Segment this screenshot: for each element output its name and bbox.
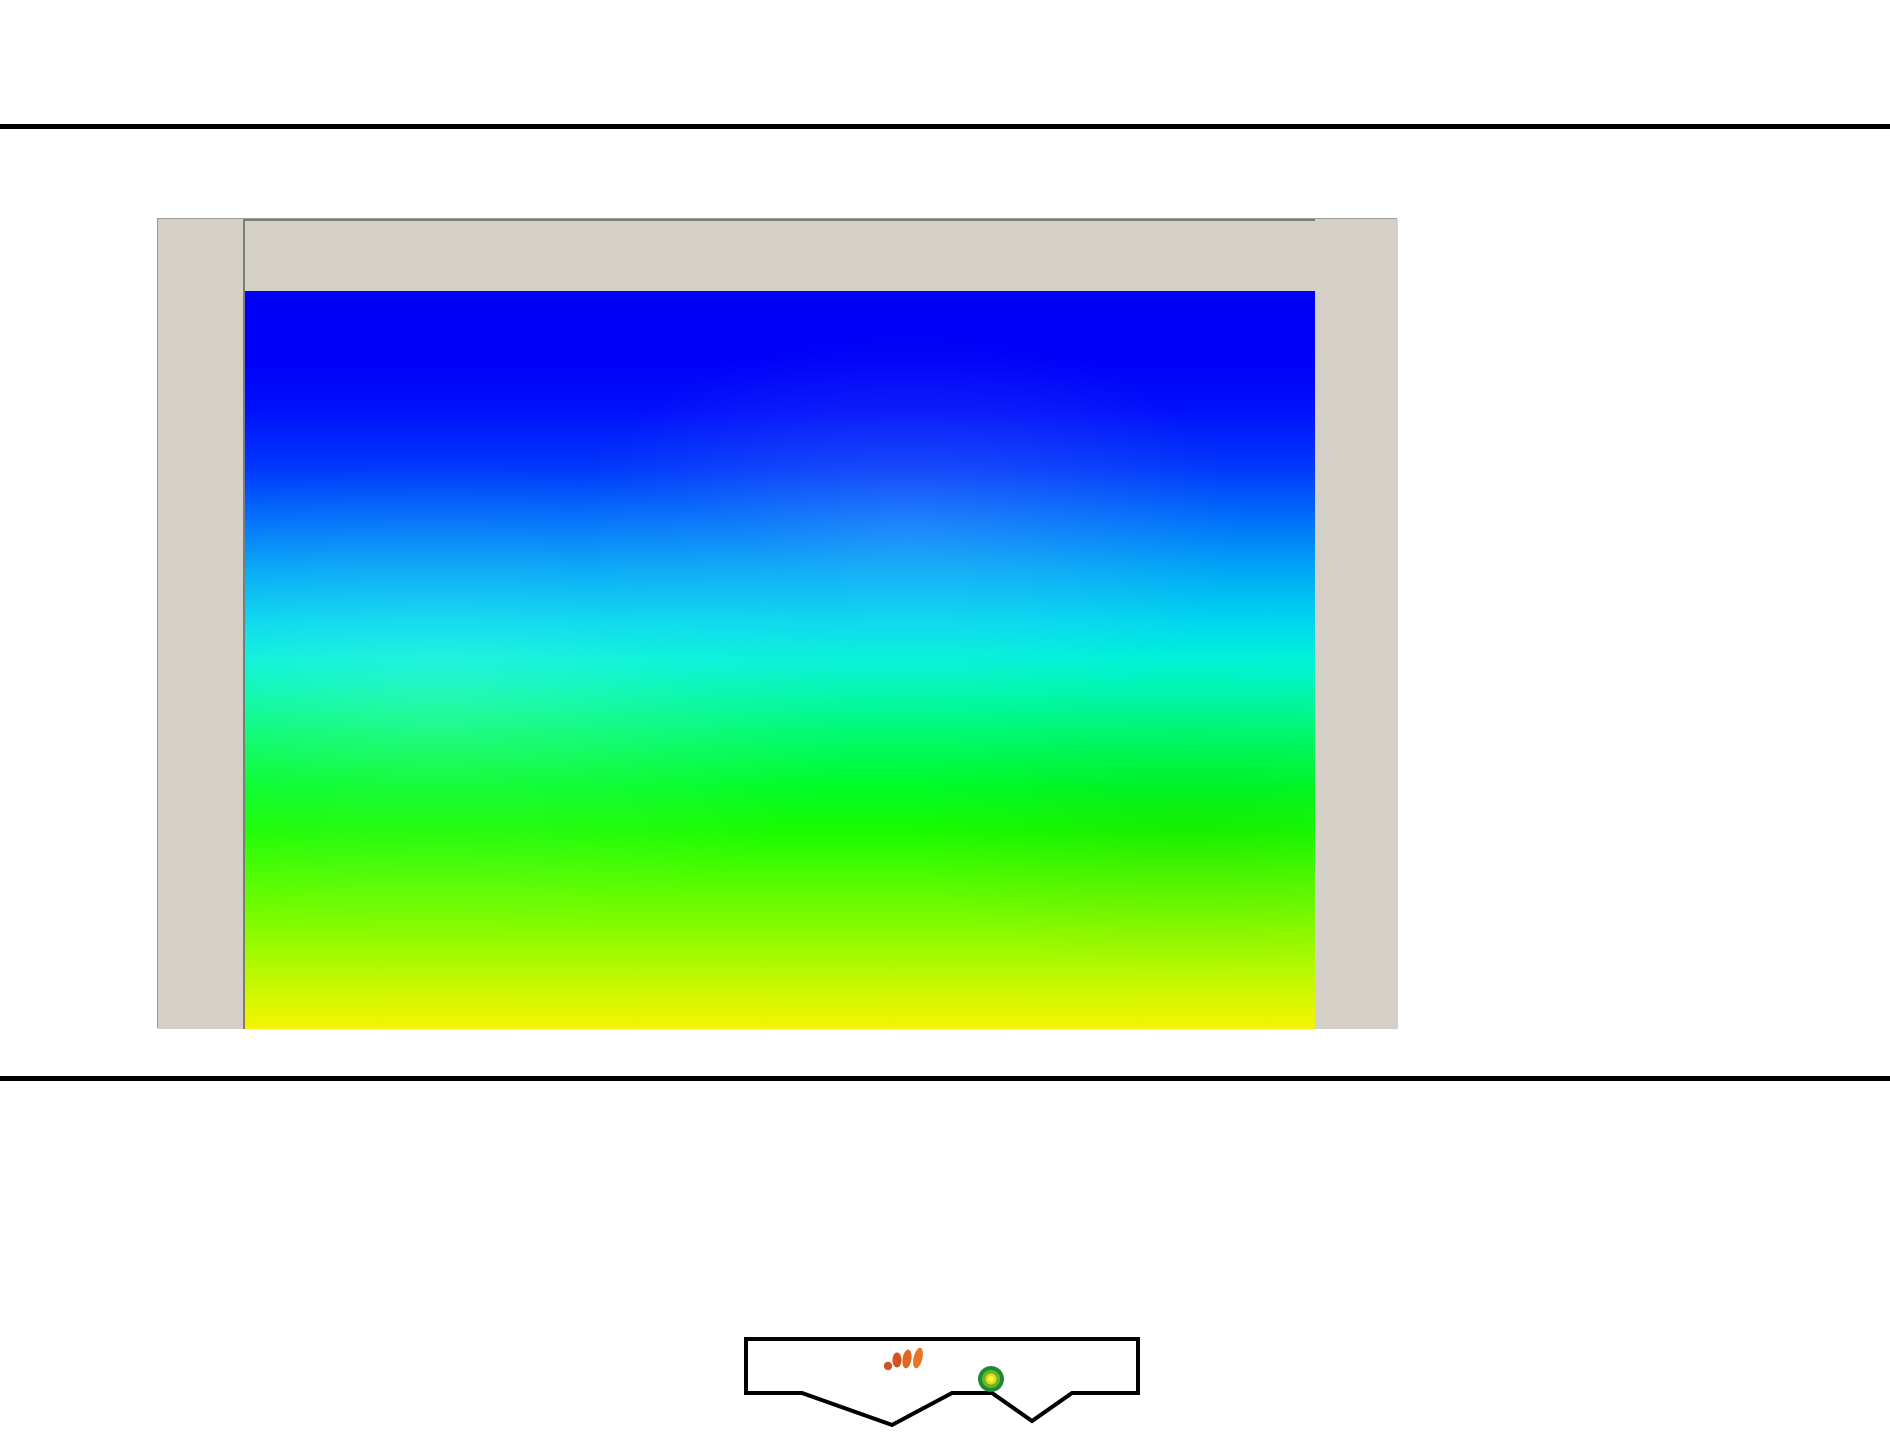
velocity-model-plot[interactable] [157, 218, 1397, 1028]
plot-canvas[interactable] [243, 291, 1315, 1029]
bhpbilliton-logo [849, 1347, 957, 1399]
sponsor-logo-row [742, 1344, 1142, 1402]
bp-helios-icon [970, 1358, 1012, 1400]
slide-header [0, 0, 1890, 128]
salt-body-overlay [245, 291, 1315, 1029]
footer-divider [0, 1076, 1890, 1081]
y-axis-left[interactable] [158, 291, 243, 1029]
plot-corner-top-left [158, 219, 243, 291]
smaart-team-logo-block [742, 1318, 1142, 1433]
y-axis-right[interactable] [1315, 291, 1398, 1029]
x-axis-header[interactable] [243, 219, 1315, 291]
plot-corner-top-right [1315, 219, 1398, 291]
bhpbilliton-mark-icon [883, 1347, 929, 1373]
header-divider [0, 124, 1890, 129]
bp-logo [970, 1346, 1022, 1400]
